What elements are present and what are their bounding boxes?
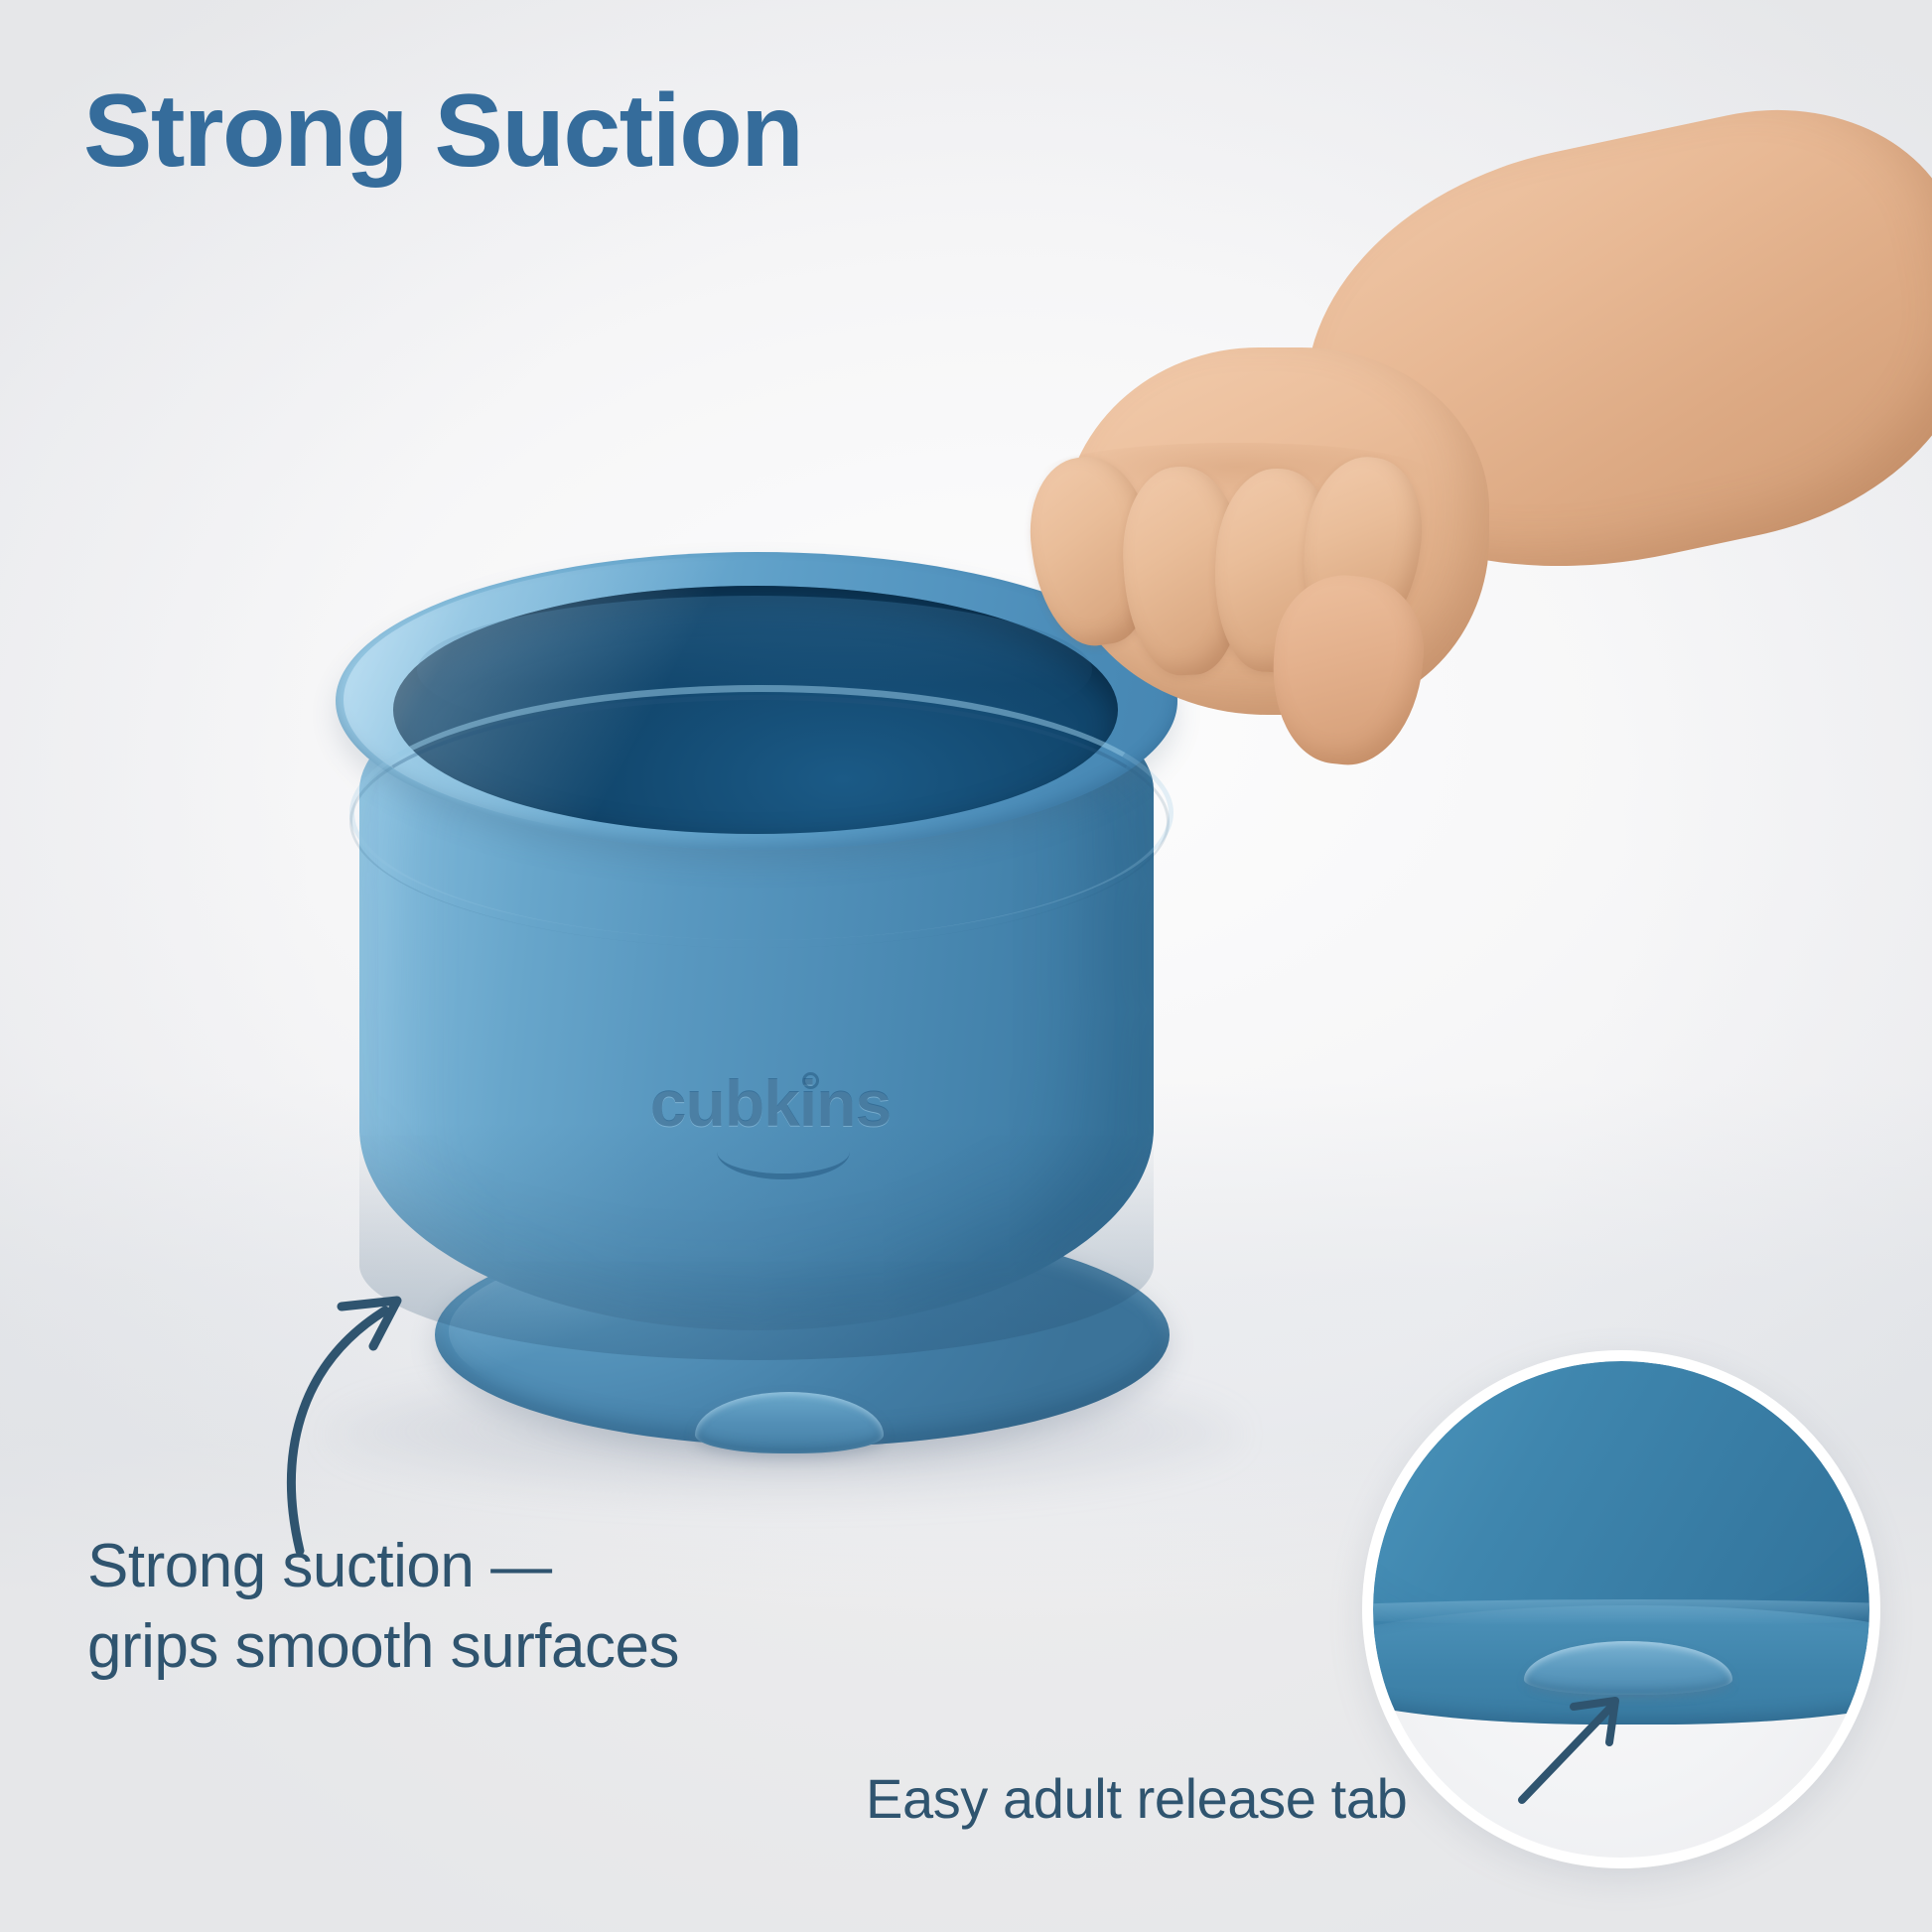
suction-caption-line-1: Strong suction — [87,1527,842,1607]
magnified-inset [1362,1350,1880,1868]
suction-caption-line-2: grips smooth surfaces [87,1607,842,1688]
inset-caption: Easy adult release tab [866,1765,1407,1832]
page-title: Strong Suction [83,77,802,186]
product-feature-image: Strong Suction cubkins Strong suction — … [0,0,1932,1932]
baby-hand [1003,159,1932,774]
inset-clip [1373,1361,1869,1858]
suction-caption: Strong suction — grips smooth surfaces [87,1527,842,1687]
